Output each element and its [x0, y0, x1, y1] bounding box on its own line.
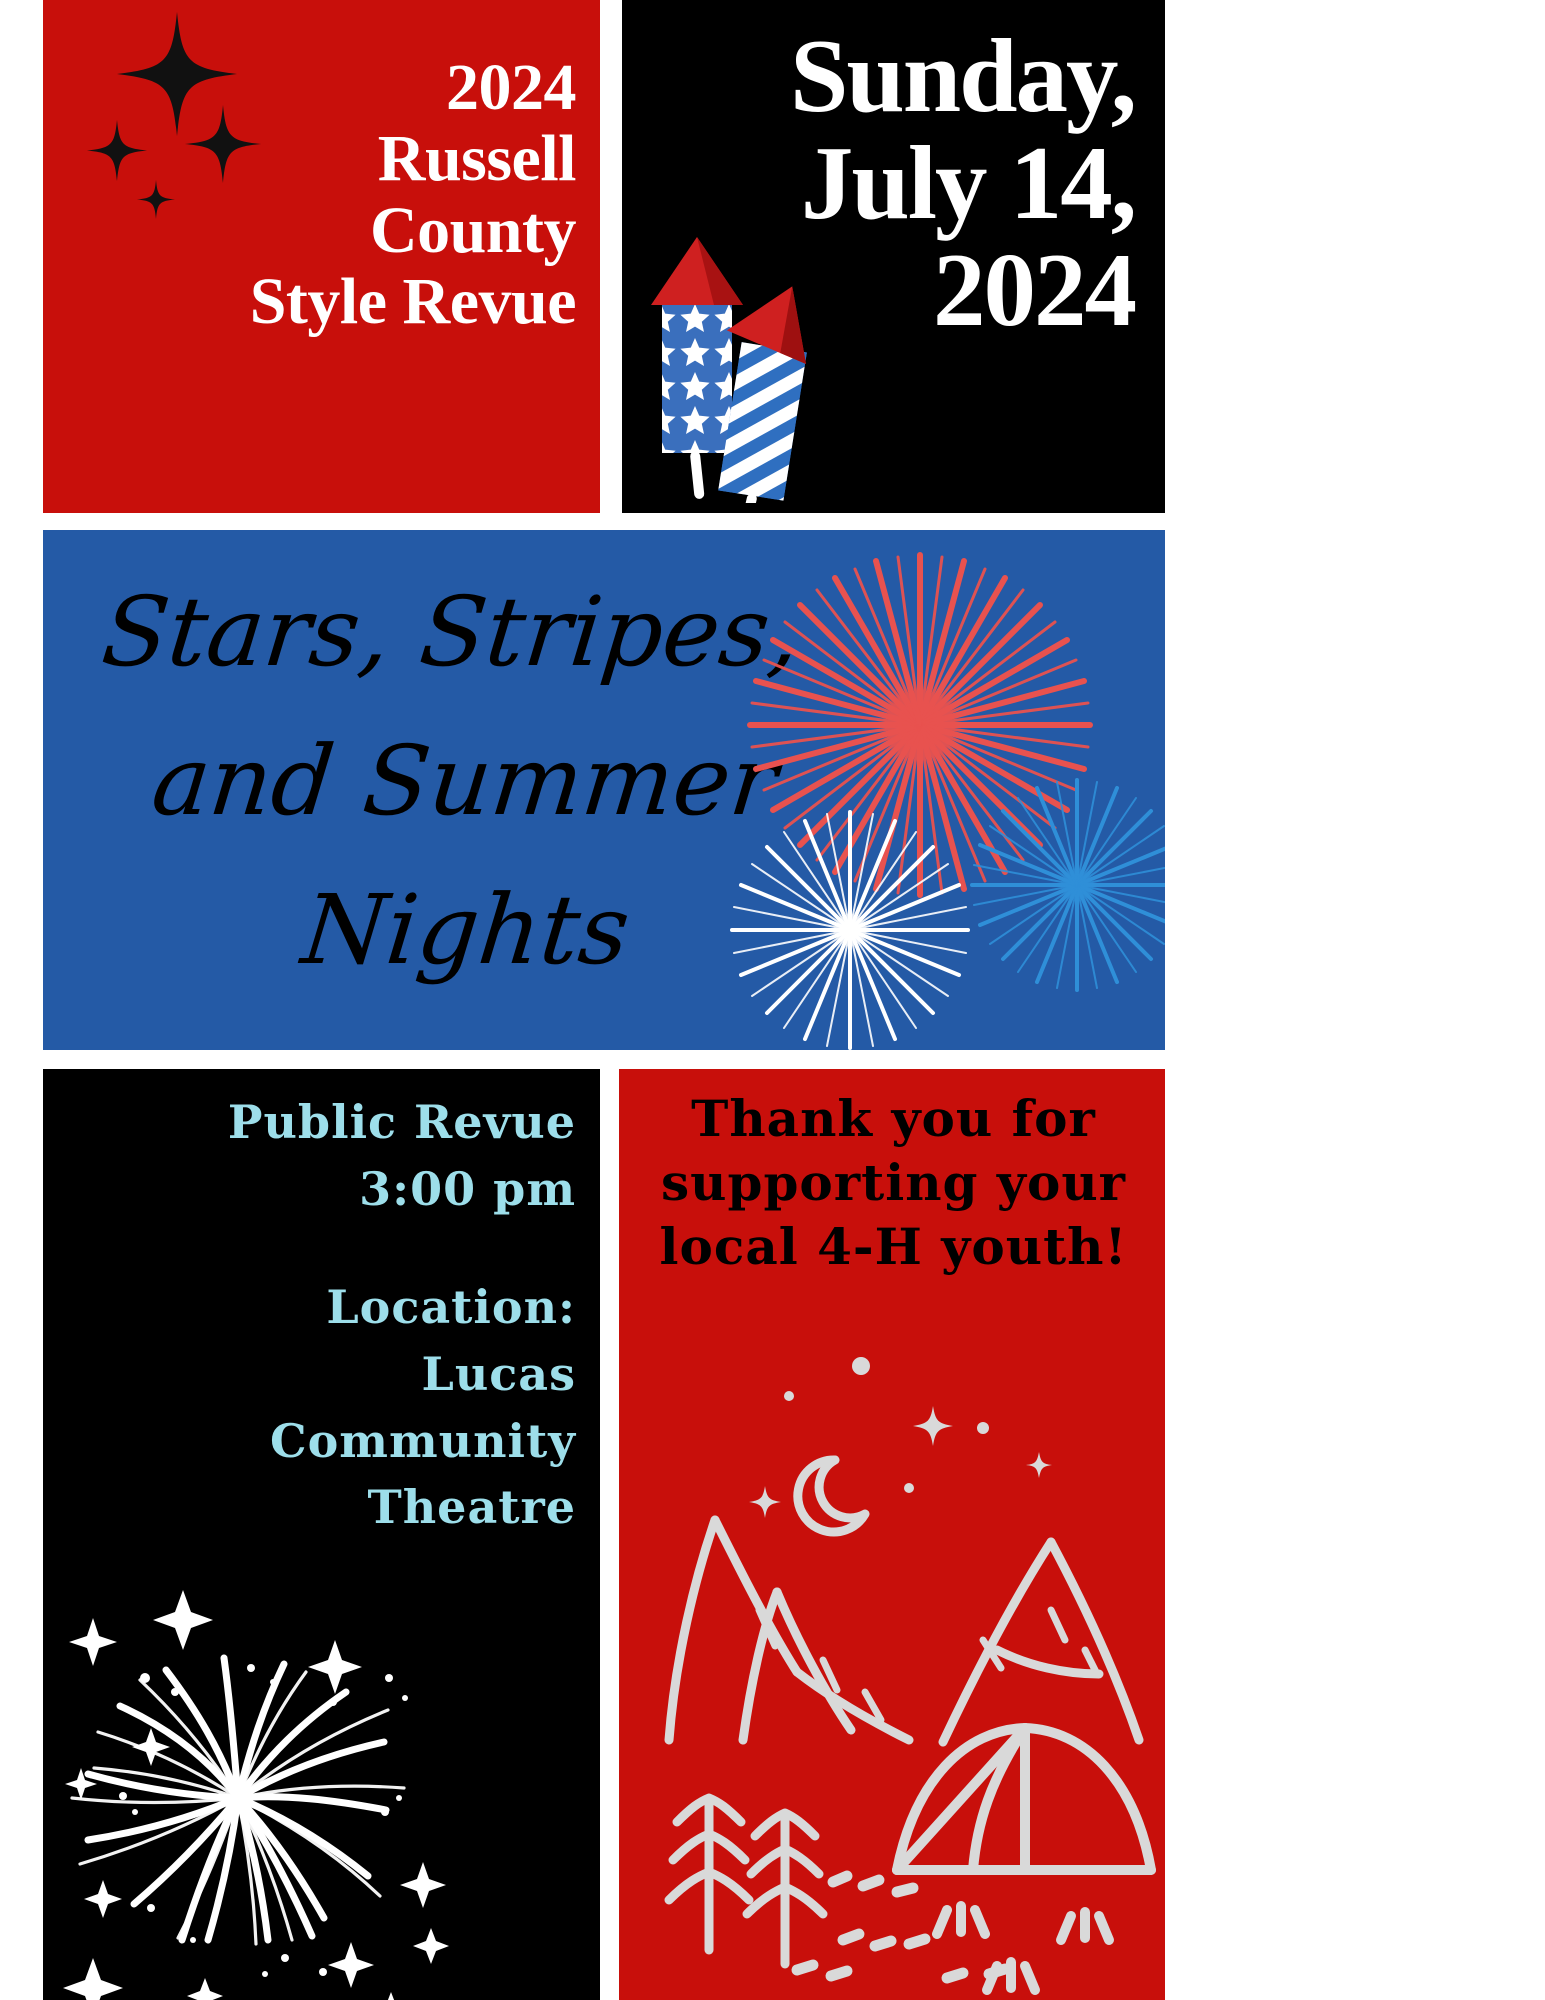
date-panel: Sunday, July 14, 2024	[622, 0, 1165, 513]
title-line-1: 2024	[176, 52, 576, 123]
location-line-1: Lucas	[96, 1341, 576, 1408]
location-line-2: Community	[96, 1408, 576, 1475]
title-line-4: Style Revue	[176, 266, 576, 337]
title-line-3: County	[176, 195, 576, 266]
event-time: 3:00 pm	[96, 1156, 576, 1223]
details-spacer	[96, 1222, 576, 1274]
title-panel: 2024 Russell County Style Revue	[43, 0, 600, 513]
thanks-text-block: Thank you for supporting your local 4-H …	[641, 1087, 1146, 1279]
location-label: Location:	[96, 1274, 576, 1341]
poster-canvas: 2024 Russell County Style Revue Sunday, …	[0, 0, 1545, 2000]
camping-scene-icon	[647, 1310, 1157, 2000]
firework-rockets-icon	[644, 233, 894, 503]
white-firework-burst-icon	[43, 1560, 453, 2000]
details-text-block: Public Revue 3:00 pm Location: Lucas Com…	[96, 1089, 576, 1541]
title-text-block: 2024 Russell County Style Revue	[176, 52, 576, 337]
title-line-2: Russell	[176, 123, 576, 194]
thanks-line-1: Thank you for	[641, 1087, 1146, 1151]
firework-burst-cluster-icon	[705, 540, 1165, 1050]
thanks-panel: Thank you for supporting your local 4-H …	[619, 1069, 1165, 2000]
location-line-3: Theatre	[96, 1474, 576, 1541]
thanks-line-3: local 4-H youth!	[641, 1215, 1146, 1279]
details-panel: Public Revue 3:00 pm Location: Lucas Com…	[43, 1069, 600, 2000]
thanks-line-2: supporting your	[641, 1151, 1146, 1215]
theme-panel: Stars, Stripes, and Summer Nights	[43, 530, 1165, 1050]
date-line-2: July 14,	[675, 129, 1135, 236]
theme-script-text: Stars, Stripes, and Summer Nights	[83, 558, 813, 1004]
public-revue-label: Public Revue	[96, 1089, 576, 1156]
date-line-1: Sunday,	[675, 22, 1135, 129]
